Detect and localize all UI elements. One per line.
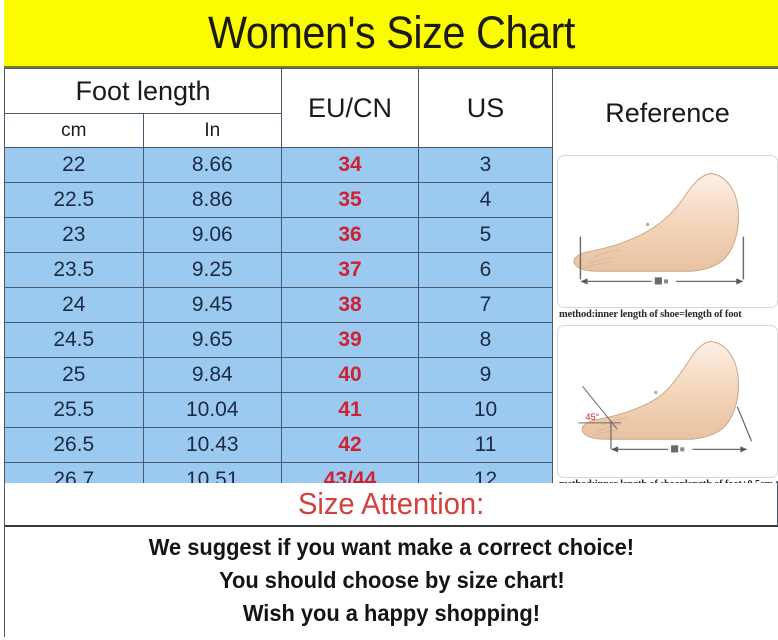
cell-in: 9.25 [143,253,282,288]
reference-figures: method:inner length of shoe=length of fo… [553,152,778,492]
reference-figure-2: 45° [553,322,778,492]
foot-diagram-2-svg: 45° [558,326,777,477]
ankle-mark-2 [654,390,657,393]
advice-line-2: You should choose by size chart! [219,564,565,597]
cell-in: 9.45 [143,288,282,323]
cell-cm: 26.5 [5,428,144,463]
measure-label-glyph-1a [655,277,662,284]
cell-in: 8.86 [143,183,282,218]
foot-shape-1 [574,173,738,271]
cell-us: 9 [419,358,553,393]
measure-label-glyph-2b [680,447,684,451]
measure-arrow-right-2 [740,446,747,452]
cell-in: 8.66 [143,148,282,183]
header-us: US [419,69,553,148]
advice-line-3: Wish you a happy shopping! [243,597,540,630]
cell-in: 9.06 [143,218,282,253]
header-reference-label: Reference [605,98,730,129]
cell-us: 10 [419,393,553,428]
cell-eu: 34 [282,148,419,183]
size-chart-page: Women's Size Chart Foot length EU/CN US … [0,0,778,640]
cell-in: 10.43 [143,428,282,463]
measure-arrow-left-2 [611,446,618,452]
title-banner: Women's Size Chart [4,0,778,68]
angle-label-2: 45° [586,411,600,421]
advice-message-box: We suggest if you want make a correct ch… [4,527,778,637]
reference-figure-1: method:inner length of shoe=length of fo… [553,152,778,322]
cell-us: 4 [419,183,553,218]
cell-cm: 25 [5,358,144,393]
cell-eu: 38 [282,288,419,323]
advice-line-1: We suggest if you want make a correct ch… [149,531,634,564]
foot-diagram-1-svg [558,156,777,307]
size-attention-heading: Size Attention: [298,486,484,522]
cell-cm: 22.5 [5,183,144,218]
measure-label-glyph-2a [671,445,678,452]
cell-eu: 40 [282,358,419,393]
cell-in: 10.04 [143,393,282,428]
reference-caption-1: method:inner length of shoe=length of fo… [557,308,778,322]
size-table-wrapper: Foot length EU/CN US Reference [4,68,778,485]
cell-us: 8 [419,323,553,358]
cell-us: 3 [419,148,553,183]
cell-cm: 25.5 [5,393,144,428]
measure-arrow-left-1 [580,278,587,284]
cell-eu: 35 [282,183,419,218]
header-eu-cn: EU/CN [282,69,419,148]
measure-arrow-right-1 [736,278,743,284]
foot-shape-2 [582,341,738,439]
ankle-mark-1 [646,222,649,225]
cell-us: 6 [419,253,553,288]
cell-eu: 39 [282,323,419,358]
page-title: Women's Size Chart [208,7,575,59]
size-attention-row: Size Attention: [4,483,778,527]
cell-us: 5 [419,218,553,253]
foot-side-view-angled-with-measure-icon: 45° [557,325,778,478]
cell-cm: 24.5 [5,323,144,358]
cell-us: 11 [419,428,553,463]
cell-eu: 41 [282,393,419,428]
header-in: In [143,114,282,148]
cell-cm: 24 [5,288,144,323]
size-table: Foot length EU/CN US Reference [4,68,778,498]
header-reference: Reference [553,69,778,498]
cell-eu: 42 [282,428,419,463]
cell-eu: 36 [282,218,419,253]
cell-cm: 23 [5,218,144,253]
cell-cm: 23.5 [5,253,144,288]
foot-side-view-with-measure-icon [557,155,778,308]
cell-in: 9.84 [143,358,282,393]
header-reference-label-box: Reference [553,75,778,152]
cell-eu: 37 [282,253,419,288]
header-cm: cm [5,114,144,148]
measure-guide-right-2 [737,406,751,441]
header-foot-length: Foot length [5,69,282,114]
cell-cm: 22 [5,148,144,183]
cell-in: 9.65 [143,323,282,358]
cell-us: 7 [419,288,553,323]
table-header-row-1: Foot length EU/CN US Reference [5,69,778,114]
measure-label-glyph-1b [664,279,668,283]
